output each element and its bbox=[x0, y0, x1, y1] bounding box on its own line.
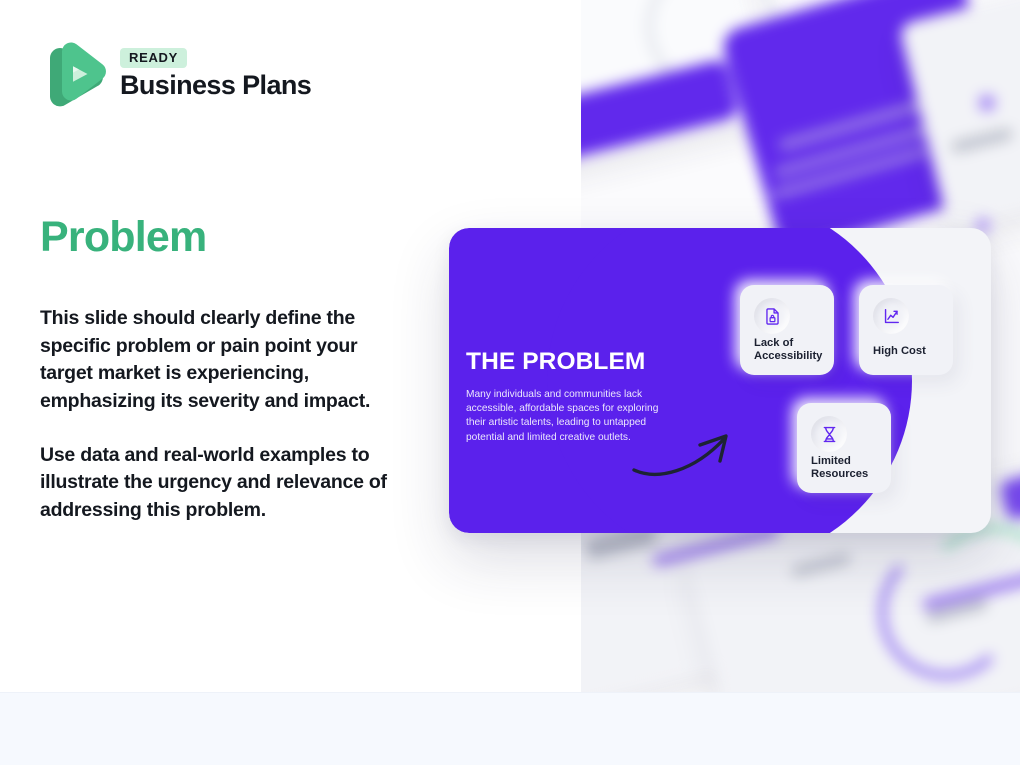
slide-stage: THE PROBLEM Many individuals and communi… bbox=[0, 0, 1020, 765]
document-lock-icon bbox=[763, 307, 782, 326]
feature-icon-well bbox=[754, 298, 790, 334]
page-title: Problem bbox=[40, 216, 206, 259]
feature-card-high-cost[interactable]: High Cost bbox=[859, 285, 953, 375]
bg-dot bbox=[979, 95, 995, 111]
feature-label: Limited Resources bbox=[811, 455, 887, 482]
body-copy: This slide should clearly define the spe… bbox=[40, 305, 415, 525]
line-chart-icon bbox=[882, 307, 901, 326]
feature-label: Lack of Accessibility bbox=[754, 337, 830, 364]
ready-badge: READY bbox=[120, 48, 187, 68]
brand-name: Business Plans bbox=[120, 70, 311, 101]
play-triangle-logo-icon bbox=[40, 38, 106, 110]
bottom-band-divider bbox=[0, 692, 1020, 693]
paragraph-2: Use data and real-world examples to illu… bbox=[40, 442, 415, 525]
brand-lockup[interactable]: READY Business Plans bbox=[40, 38, 311, 110]
slide-preview-card[interactable]: THE PROBLEM Many individuals and communi… bbox=[449, 228, 991, 533]
curved-arrow-icon bbox=[632, 423, 742, 483]
paragraph-1: This slide should clearly define the spe… bbox=[40, 305, 415, 416]
bottom-band bbox=[0, 692, 1020, 765]
feature-label: High Cost bbox=[873, 345, 949, 359]
feature-card-limited-resources[interactable]: Limited Resources bbox=[797, 403, 891, 493]
brand-text-group: READY Business Plans bbox=[120, 46, 311, 101]
feature-icon-well bbox=[811, 416, 847, 452]
hourglass-icon bbox=[820, 425, 839, 444]
feature-card-lack-of-accessibility[interactable]: Lack of Accessibility bbox=[740, 285, 834, 375]
feature-icon-well bbox=[873, 298, 909, 334]
preview-heading: THE PROBLEM bbox=[466, 350, 681, 375]
